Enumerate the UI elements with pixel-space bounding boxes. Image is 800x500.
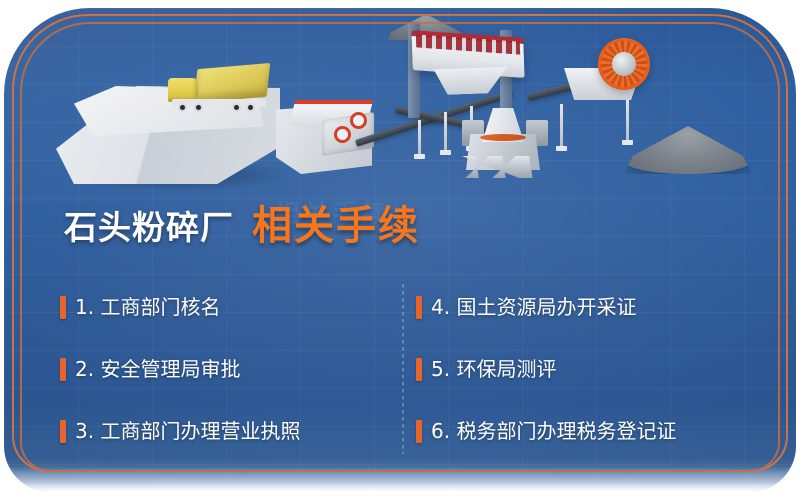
- list-item-6[interactable]: 6. 税务部门办理税务登记证: [416, 400, 760, 462]
- list-item-label: 2. 安全管理局审批: [75, 359, 240, 379]
- conveyor-support-foot: [414, 154, 425, 159]
- title-accent-text: 相关手续: [252, 206, 420, 246]
- conveyor-support-leg: [626, 100, 629, 142]
- blue-panel: 相关手续 石头粉碎厂 相关手续 1. 工商部门核名 4. 国土资源局办开采证 2…: [4, 8, 796, 492]
- truck-wheel-icon: [232, 103, 241, 112]
- truck-wheel-icon: [194, 103, 203, 112]
- jaw-crusher-flywheel-icon: [334, 126, 351, 143]
- procedures-list: 1. 工商部门核名 4. 国土资源局办开采证 2. 安全管理局审批 5. 环保局…: [60, 276, 760, 462]
- conveyor-support-leg: [444, 112, 447, 152]
- banner-title: 石头粉碎厂 相关手续: [64, 206, 420, 246]
- stone-crushing-plant-banner: 相关手续 石头粉碎厂 相关手续 1. 工商部门核名 4. 国土资源局办开采证 2…: [0, 0, 800, 500]
- bullet-marker-icon: [416, 358, 422, 381]
- jaw-crusher-flywheel-icon: [350, 112, 367, 129]
- list-item-2[interactable]: 2. 安全管理局审批: [60, 338, 416, 400]
- list-item-label: 6. 税务部门办理税务登记证: [431, 421, 676, 441]
- list-item-3[interactable]: 3. 工商部门办理营业执照: [60, 400, 416, 462]
- list-item-1[interactable]: 1. 工商部门核名: [60, 276, 416, 338]
- conveyor-support-leg: [418, 120, 421, 156]
- conveyor-support-foot: [622, 140, 633, 145]
- conveyor-support-foot: [556, 146, 567, 151]
- conveyor-support-foot: [440, 150, 451, 155]
- sand-washer-hub: [612, 52, 636, 76]
- truck-wheel-icon: [178, 103, 187, 112]
- list-item-label: 1. 工商部门核名: [75, 297, 220, 317]
- bullet-marker-icon: [416, 296, 422, 319]
- bullet-marker-icon: [416, 420, 422, 443]
- bullet-marker-icon: [60, 420, 66, 443]
- bullet-marker-icon: [60, 296, 66, 319]
- bullet-marker-icon: [60, 358, 66, 381]
- list-item-label: 3. 工商部门办理营业执照: [75, 421, 300, 441]
- list-item-5[interactable]: 5. 环保局测评: [416, 338, 760, 400]
- truck-wheel-icon: [246, 103, 255, 112]
- conveyor-support-leg: [560, 104, 563, 148]
- list-item-label: 4. 国土资源局办开采证: [431, 297, 636, 317]
- list-item-4[interactable]: 4. 国土资源局办开采证: [416, 276, 760, 338]
- plant-illustration: [4, 8, 796, 203]
- vsi-orange-ring: [480, 134, 526, 141]
- list-item-label: 5. 环保局测评: [431, 359, 556, 379]
- dump-truck-bed-icon: [194, 63, 271, 103]
- bottom-fade: [4, 466, 796, 492]
- title-main-text: 石头粉碎厂: [64, 211, 234, 244]
